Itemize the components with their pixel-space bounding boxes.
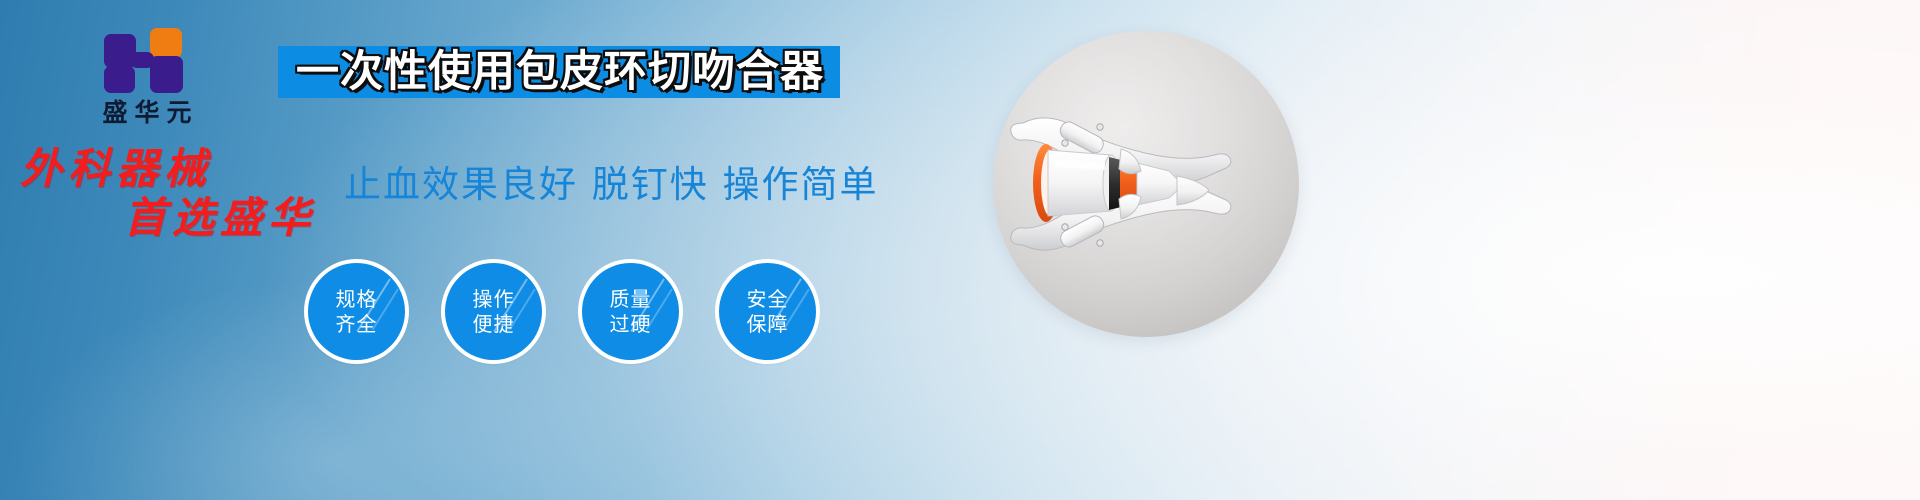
calligraphy-line-1: 外科器械 [20, 144, 212, 193]
badge-line-2: 过硬 [610, 312, 652, 336]
badge-line-2: 便捷 [473, 312, 515, 336]
product-title-bar: 一次性使用包皮环切吻合器 [278, 46, 840, 98]
product-subtitle: 止血效果良好 脱钉快 操作简单 [344, 166, 879, 203]
feature-badge-list: 规格 齐全 操作 便捷 质量 过硬 安全 保障 [308, 263, 816, 360]
feature-badge-operation[interactable]: 操作 便捷 [445, 263, 542, 360]
disposable-circumcision-stapler-image [993, 31, 1299, 337]
product-photo [993, 31, 1299, 337]
badge-line-1: 操作 [473, 287, 515, 311]
product-title: 一次性使用包皮环切吻合器 [296, 51, 824, 94]
badge-line-1: 安全 [747, 287, 789, 311]
badge-line-1: 规格 [336, 287, 378, 311]
promo-banner: 盛华元 一次性使用包皮环切吻合器 外科器械 首选盛华 止血效果良好 脱钉快 操作… [0, 0, 1920, 500]
feature-badge-specifications[interactable]: 规格 齐全 [308, 263, 405, 360]
brand-name: 盛华元 [62, 100, 232, 126]
badge-line-2: 保障 [747, 312, 789, 336]
badge-line-1: 质量 [610, 287, 652, 311]
badge-line-2: 齐全 [336, 312, 378, 336]
feature-badge-safety[interactable]: 安全 保障 [719, 263, 816, 360]
calligraphy-slogan: 外科器械 首选盛华 [20, 148, 316, 240]
feature-badge-quality[interactable]: 质量 过硬 [582, 263, 679, 360]
shenghuayuan-blocks-logo-icon [104, 28, 190, 94]
calligraphy-line-2: 首选盛华 [124, 197, 316, 240]
brand-logo[interactable]: 盛华元 [62, 28, 232, 126]
